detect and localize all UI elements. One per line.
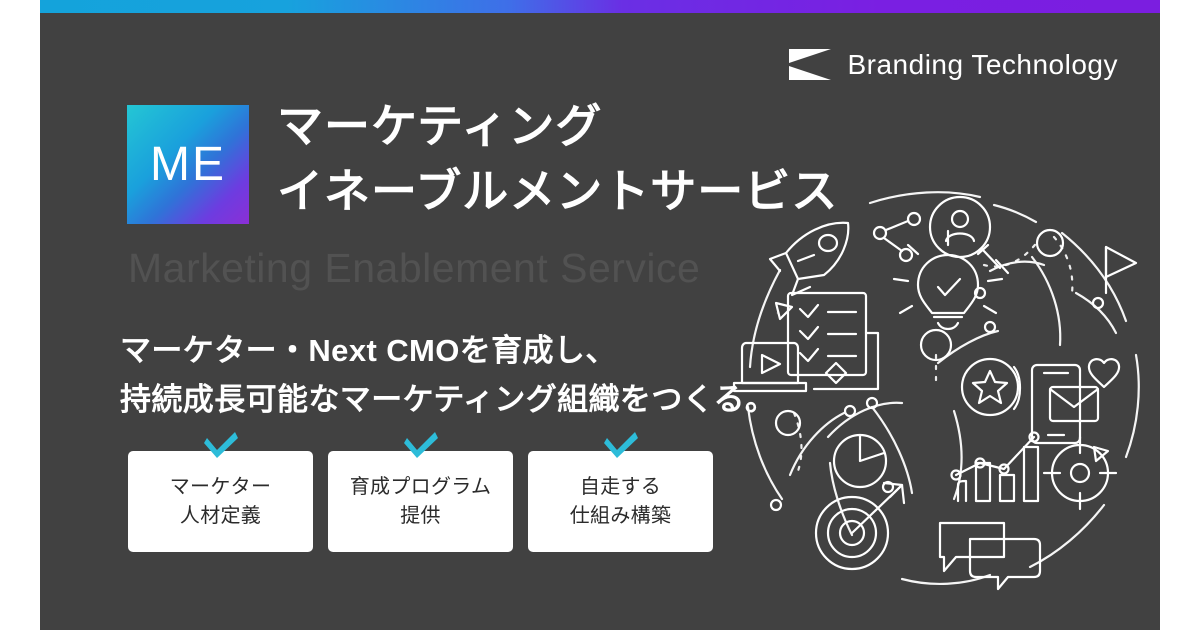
- poster-canvas: Branding Technology ME マーケティング イネーブルメントサ…: [0, 0, 1200, 630]
- collage-svg: [732, 175, 1152, 595]
- feature-card[interactable]: マーケター 人材定義: [128, 451, 313, 552]
- share-network-icon: [874, 213, 920, 261]
- headline-line-1: マーケティング: [277, 94, 838, 159]
- rocket-icon: [770, 223, 848, 295]
- node-dot-right: [1093, 298, 1103, 308]
- speech-bubbles-icon: [940, 523, 1040, 589]
- me-badge: ME: [127, 105, 249, 224]
- check-icon: [204, 432, 238, 458]
- lightbulb-check-icon: [894, 231, 1002, 329]
- smartphone-mail-icon: [1032, 365, 1098, 443]
- english-subtitle: Marketing Enablement Service: [128, 245, 700, 292]
- circle-node-icon: [1037, 230, 1063, 256]
- diamond-icon: [826, 363, 846, 383]
- feature-card-line-1: 育成プログラム: [350, 473, 492, 502]
- checklist-clipboard-icon: [788, 293, 878, 389]
- feature-card-list: マーケター 人材定義 育成プログラム 提供 自走する 仕組み構築: [128, 451, 713, 552]
- feature-card[interactable]: 育成プログラム 提供: [328, 451, 513, 552]
- feature-card-line-2: 人材定義: [180, 502, 261, 531]
- triangle-icon: [776, 303, 792, 319]
- tagline: マーケター・Next CMOを育成し、 持続成長可能なマーケティング組織をつくる…: [120, 327, 776, 425]
- brand-name: Branding Technology: [847, 49, 1118, 81]
- check-icon: [404, 432, 438, 458]
- check-icon: [604, 432, 638, 458]
- bar-chart-trend-icon: [952, 433, 1039, 502]
- dark-panel: Branding Technology ME マーケティング イネーブルメントサ…: [40, 0, 1160, 630]
- star-badge-icon: [962, 359, 1020, 415]
- crosshair-target-icon: [1044, 437, 1116, 509]
- tagline-line-1: マーケター・Next CMOを育成し、: [120, 327, 776, 376]
- me-badge-text: ME: [150, 141, 226, 189]
- double-chevron-wing-icon: [789, 48, 833, 81]
- feature-card-line-2: 提供: [400, 502, 441, 531]
- feature-card-line-1: マーケター: [170, 473, 272, 502]
- feature-card[interactable]: 自走する 仕組み構築: [528, 451, 713, 552]
- top-gradient-bar: [40, 0, 1160, 13]
- heart-icon: [1089, 359, 1119, 387]
- feature-card-line-2: 仕組み構築: [570, 502, 672, 531]
- feature-card-line-1: 自走する: [580, 473, 661, 502]
- laptop-play-icon: [734, 343, 806, 391]
- brand-lockup: Branding Technology: [789, 48, 1118, 81]
- node-dots: [771, 288, 995, 510]
- person-search-icon: [930, 197, 1008, 273]
- pie-chart-icon: [834, 435, 886, 487]
- bullseye-arrow-icon: [816, 483, 904, 569]
- marketing-icon-collage: [732, 175, 1152, 595]
- tagline-line-2: 持続成長可能なマーケティング組織をつくる。: [120, 376, 776, 425]
